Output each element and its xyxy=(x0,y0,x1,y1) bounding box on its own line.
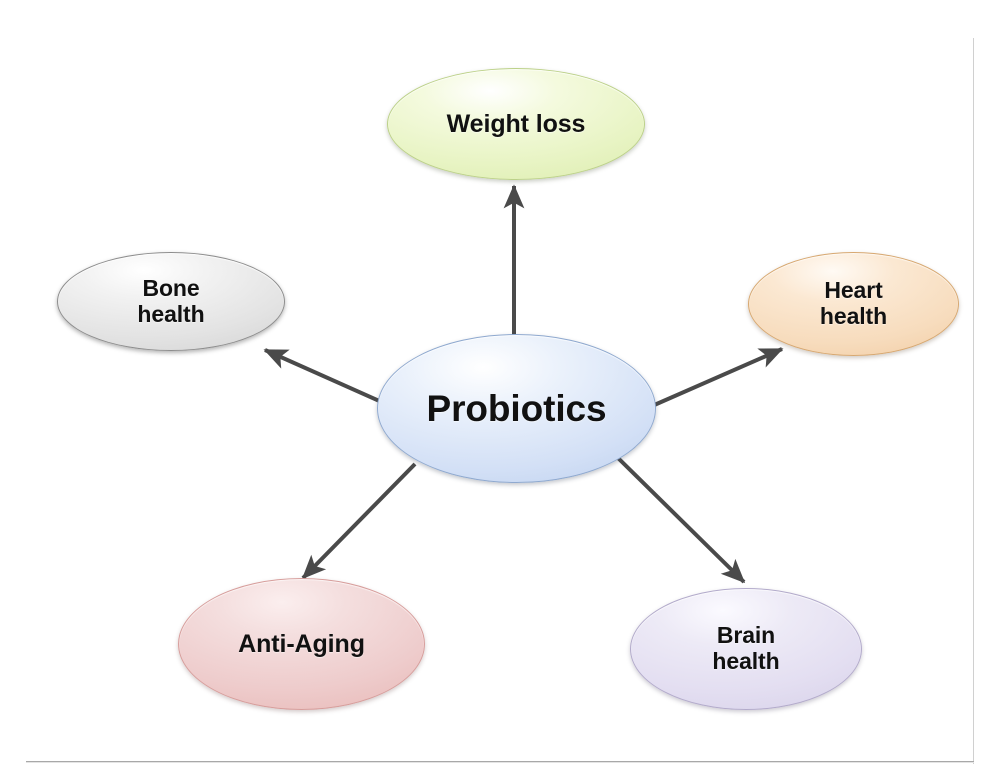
frame-rule-right xyxy=(973,38,974,764)
edge-to-brain-health xyxy=(616,456,744,582)
node-weight-loss[interactable]: Weight loss xyxy=(387,68,645,180)
edge-to-heart-health xyxy=(652,349,782,406)
node-probiotics-center[interactable]: Probiotics xyxy=(377,334,656,483)
node-bone-health-label: Bone health xyxy=(131,276,210,328)
node-probiotics-label: Probiotics xyxy=(421,388,613,429)
node-heart-health[interactable]: Heart health xyxy=(748,252,959,356)
diagram-canvas: Weight loss Bone health Heart health Ant… xyxy=(0,0,990,764)
node-bone-health[interactable]: Bone health xyxy=(57,252,285,351)
node-brain-health[interactable]: Brain health xyxy=(630,588,862,710)
node-heart-health-label: Heart health xyxy=(814,278,893,330)
node-weight-loss-label: Weight loss xyxy=(441,110,592,138)
node-brain-health-label: Brain health xyxy=(706,623,785,675)
frame-rule-bottom xyxy=(26,761,974,762)
node-anti-aging-label: Anti-Aging xyxy=(232,630,371,658)
node-anti-aging[interactable]: Anti-Aging xyxy=(178,578,425,710)
edge-to-anti-aging xyxy=(303,464,415,578)
